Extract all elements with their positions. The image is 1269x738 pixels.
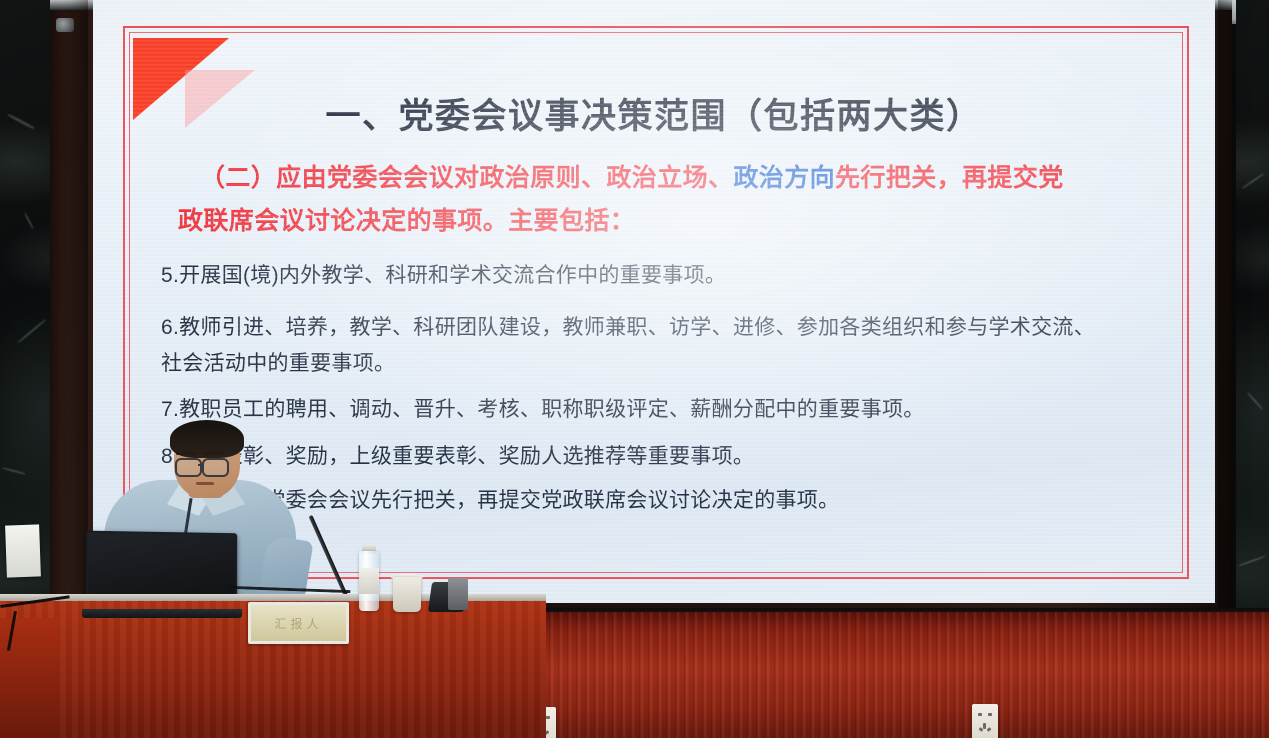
slide-subtitle-line-2: 政联席会议讨论决定的事项。主要包括： (178, 205, 1179, 239)
subtitle-part-2: 先行把关，再提交党 (835, 164, 1064, 192)
laptop-keyboard-base[interactable] (82, 609, 242, 618)
slide-subtitle-line-1: （二）应由党委会会议对政治原则、政治立场、政治方向先行把关，再提交党 (178, 162, 1179, 196)
side-paper-sheet (5, 524, 41, 577)
person-mouth (196, 482, 214, 485)
glasses-lens-right (202, 458, 229, 477)
nameplate-text: 汇报人 (251, 605, 346, 641)
bezel-sensor-icon (56, 18, 74, 32)
person-eyebrow-right (204, 452, 224, 455)
slide-item-6: 6.教师引进、培养，教学、科研团队建设，教师兼职、访学、进修、参加各类组织和参与… (161, 314, 1195, 341)
glasses-bridge (198, 464, 204, 466)
slide-item-6-cont: 社会活动中的重要事项。 (161, 350, 1195, 377)
wall-socket-right (972, 704, 998, 738)
slide-item-5: 5.开展国(境)内外教学、科研和学术交流合作中的重要事项。 (161, 262, 1195, 289)
nameplate: 汇报人 (248, 602, 349, 644)
slide-title: 一、党委会议事决策范围（包括两大类） (93, 88, 1215, 139)
slide-item-7: 7.教职员工的聘用、调动、晋升、考核、职称职级评定、薪酬分配中的重要事项。 (161, 396, 1195, 423)
slide-item-8: 8.学院表彰、奖励，上级重要表彰、奖励人选推荐等重要事项。 (161, 443, 1195, 470)
water-bottle-label (359, 568, 379, 594)
slide-item-9: 9.其他应由党委会会议先行把关，再提交党政联席会议讨论决定的事项。 (161, 487, 1195, 514)
microphone-control-panel[interactable] (448, 578, 468, 610)
person-eyebrow-left (176, 452, 196, 455)
paper-cup (393, 577, 421, 612)
glasses-lens-left (175, 458, 202, 477)
subtitle-highlight: 政治方向 (733, 164, 835, 192)
conference-room-photo: 一、党委会议事决策范围（包括两大类） （二）应由党委会会议对政治原则、政治立场、… (0, 0, 1269, 738)
subtitle-part-1: （二）应由党委会会议对政治原则、政治立场、 (200, 164, 733, 192)
